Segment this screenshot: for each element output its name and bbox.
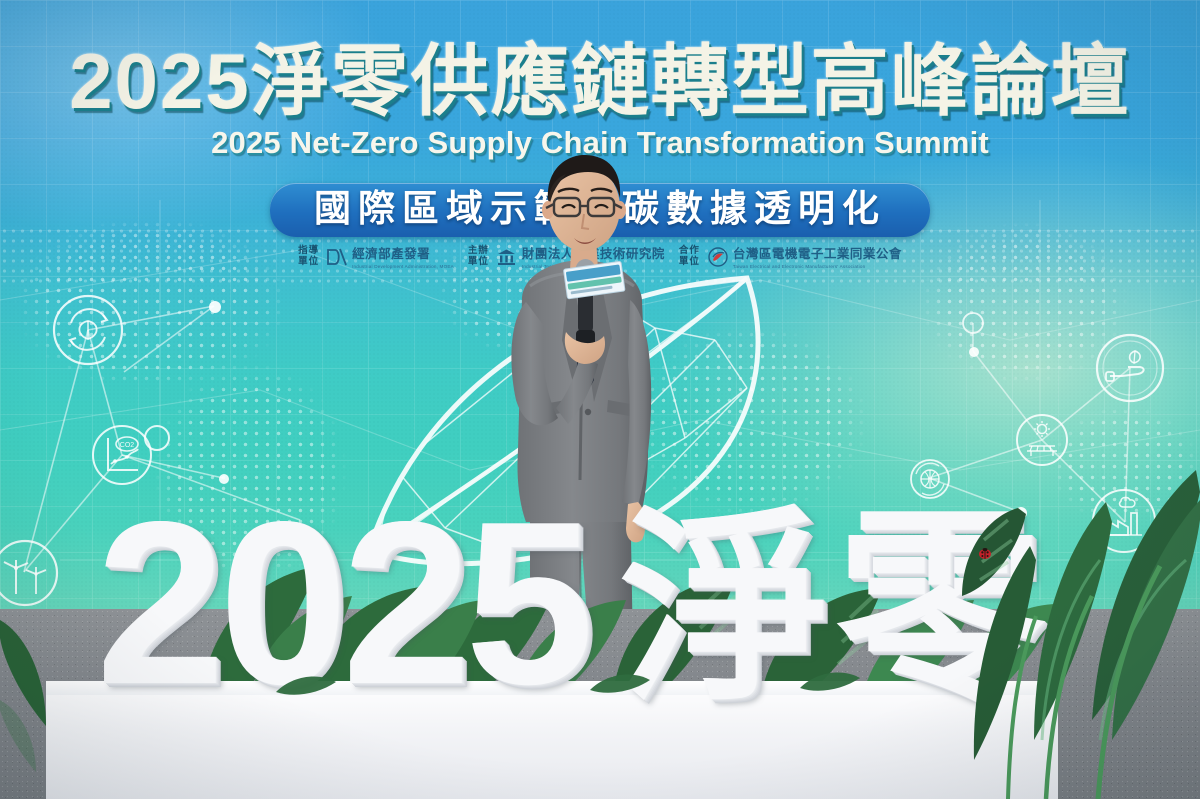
network-ring-b (960, 310, 986, 336)
sponsor-logo: 經濟部產發署 Industrial Development Administra… (326, 245, 454, 270)
stage-letters-2025: 2025 (96, 514, 588, 695)
hand-leaf-icon (1094, 332, 1166, 404)
factory-cloud-icon (1090, 487, 1158, 555)
wind-turbine-icon (0, 538, 60, 608)
sponsor-label: 指導 單位 (298, 246, 319, 268)
sponsor-name-block: 台灣區電機電子工業同業公會 Taiwan Electrical and Elec… (733, 245, 902, 270)
network-ring-a (142, 423, 172, 453)
sponsor-name-block: 經濟部產發署 Industrial Development Administra… (352, 245, 454, 270)
sponsor-name: 台灣區電機電子工業同業公會 (733, 247, 902, 261)
ladybug-icon (978, 548, 992, 559)
sponsor-group-guiding: 指導 單位 經濟部產發署 Industrial Development Admi… (298, 245, 454, 270)
sponsor-logo: 台灣區電機電子工業同業公會 Taiwan Electrical and Elec… (707, 245, 902, 270)
svg-text:CO2: CO2 (120, 442, 135, 449)
page-title-chinese: 2025淨零供應鏈轉型高峰論壇 (0, 42, 1200, 120)
sponsor-name-en: Industrial Development Administration, M… (352, 264, 454, 269)
sponsor-name: 經濟部產發署 (352, 247, 430, 261)
moea-diamond-icon (326, 248, 348, 267)
network-node-dot-c (966, 344, 982, 360)
solar-panel-icon (1015, 413, 1069, 467)
banner-headline-block: 2025淨零供應鏈轉型高峰論壇 2025 Net-Zero Supply Cha… (0, 42, 1200, 158)
jacket-button (585, 409, 591, 415)
network-node-dot-a (206, 298, 224, 316)
leaf-cycle-icon (51, 293, 125, 367)
sponsor-name-en: Taiwan Electrical and Electronic Manufac… (733, 264, 902, 269)
event-photo-stage: CO2 (0, 0, 1200, 799)
